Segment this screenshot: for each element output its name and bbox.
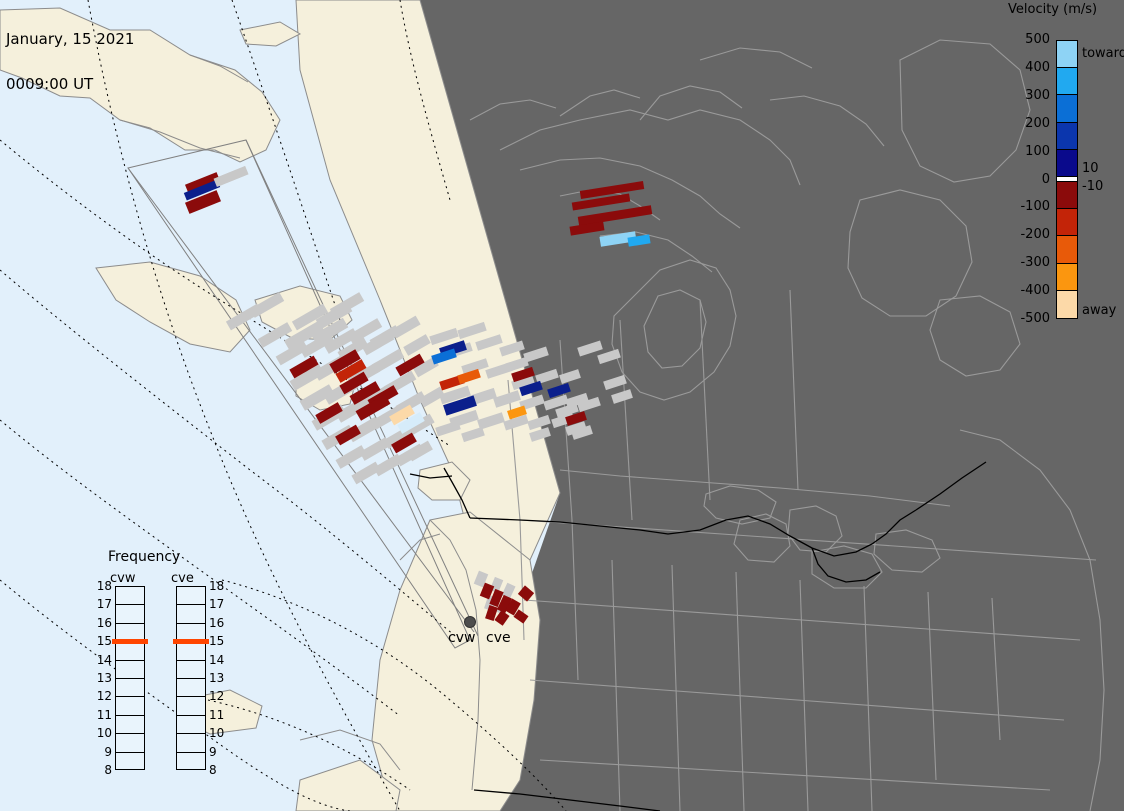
frequency-tick: 14 bbox=[92, 653, 112, 667]
radar-site-dot bbox=[465, 617, 476, 628]
map-radar-label-cvw: cvw bbox=[448, 630, 475, 646]
frequency-cell bbox=[116, 734, 144, 752]
colorbar-band bbox=[1057, 264, 1077, 291]
frequency-marker-cve bbox=[173, 639, 209, 644]
frequency-tick: 14 bbox=[209, 653, 229, 667]
frequency-bar-label-cve: cve bbox=[171, 571, 194, 586]
radar-site-marker-layer bbox=[0, 0, 1124, 811]
frequency-cell bbox=[177, 679, 205, 697]
frequency-tick: 13 bbox=[92, 671, 112, 685]
frequency-tick: 9 bbox=[209, 745, 229, 759]
frequency-cell bbox=[177, 734, 205, 752]
frequency-tick: 9 bbox=[92, 745, 112, 759]
colorbar-band bbox=[1057, 291, 1077, 318]
frequency-cell bbox=[177, 661, 205, 679]
frequency-cell bbox=[116, 753, 144, 771]
superdarn-map-figure: January, 15 2021 0009:00 UT Velocity (m/… bbox=[0, 0, 1124, 811]
frequency-tick: 15 bbox=[209, 634, 229, 648]
colorbar-band bbox=[1057, 95, 1077, 122]
colorbar-band bbox=[1057, 123, 1077, 150]
frequency-tick: 12 bbox=[92, 689, 112, 703]
frequency-tick: 16 bbox=[209, 616, 229, 630]
frequency-cell bbox=[177, 716, 205, 734]
frequency-marker-cvw bbox=[112, 639, 148, 644]
frequency-tick: 11 bbox=[92, 708, 112, 722]
frequency-cell bbox=[177, 587, 205, 605]
frequency-cell bbox=[116, 587, 144, 605]
frequency-tick: 15 bbox=[92, 634, 112, 648]
frequency-tick: 17 bbox=[92, 597, 112, 611]
frequency-tick: 13 bbox=[209, 671, 229, 685]
velocity-colorbar bbox=[1056, 40, 1078, 319]
timestamp-block: January, 15 2021 0009:00 UT bbox=[6, 2, 134, 122]
colorbar-band bbox=[1057, 150, 1077, 177]
frequency-cell bbox=[116, 642, 144, 660]
frequency-tick: 12 bbox=[209, 689, 229, 703]
frequency-cell bbox=[177, 605, 205, 623]
colorbar-title: Velocity (m/s) bbox=[1008, 2, 1097, 17]
frequency-cell bbox=[116, 716, 144, 734]
frequency-tick: 8 bbox=[209, 763, 229, 777]
frequency-tick: 10 bbox=[92, 726, 112, 740]
frequency-bar-cve bbox=[176, 586, 206, 770]
colorbar-toward-label: toward bbox=[1082, 46, 1124, 61]
frequency-cell bbox=[177, 753, 205, 771]
frequency-cell bbox=[116, 605, 144, 623]
colorbar-away-label: away bbox=[1082, 303, 1116, 318]
frequency-cell bbox=[116, 661, 144, 679]
frequency-bar-cvw bbox=[115, 586, 145, 770]
frequency-cell bbox=[177, 697, 205, 715]
frequency-bar-label-cvw: cvw bbox=[110, 571, 135, 586]
colorbar-band bbox=[1057, 182, 1077, 209]
frequency-cell bbox=[177, 642, 205, 660]
colorbar-zero-upper-label: 10 bbox=[1082, 161, 1099, 176]
colorbar-band bbox=[1057, 209, 1077, 236]
colorbar-band bbox=[1057, 68, 1077, 95]
colorbar-zero-lower-label: -10 bbox=[1082, 179, 1103, 194]
frequency-tick: 16 bbox=[92, 616, 112, 630]
frequency-cell bbox=[116, 697, 144, 715]
frequency-tick: 11 bbox=[209, 708, 229, 722]
frequency-panel-title: Frequency bbox=[108, 549, 180, 565]
frequency-tick: 10 bbox=[209, 726, 229, 740]
frequency-tick: 17 bbox=[209, 597, 229, 611]
colorbar-band bbox=[1057, 41, 1077, 68]
frequency-tick: 8 bbox=[92, 763, 112, 777]
frequency-cell bbox=[116, 679, 144, 697]
time-label: 0009:00 UT bbox=[6, 77, 134, 92]
frequency-tick: 18 bbox=[92, 579, 112, 593]
date-label: January, 15 2021 bbox=[6, 32, 134, 47]
colorbar-band bbox=[1057, 236, 1077, 263]
map-radar-label-cve: cve bbox=[486, 630, 511, 646]
frequency-tick: 18 bbox=[209, 579, 229, 593]
